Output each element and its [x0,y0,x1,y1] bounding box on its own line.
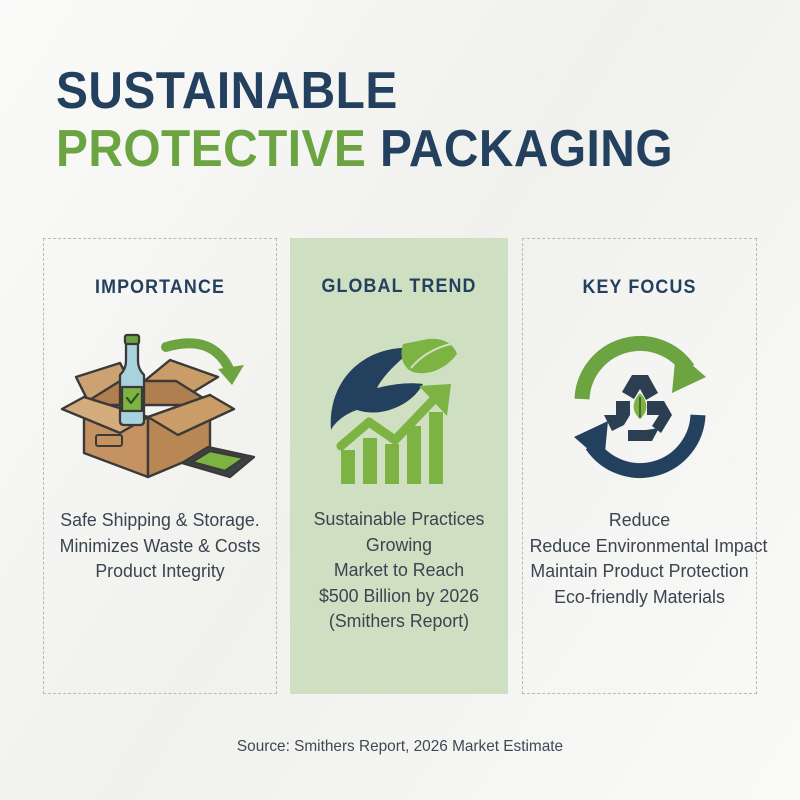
navy-arrowhead [574,421,608,463]
panel-importance-heading: IMPORTANCE [51,277,269,299]
panel-key-focus-line-3: Maintain Product Protection [530,558,750,584]
infographic-root: SUSTAINABLE PROTECTIVE PACKAGING IMPORTA… [0,0,800,800]
title-word-protective: PROTECTIVE [56,120,366,178]
panel-global-trend-line-5: (Smithers Report) [296,608,501,634]
panel-key-focus-body: Reduce Reduce Environmental Impact Maint… [530,507,750,609]
panel-global-trend: GLOBAL TREND [290,238,508,694]
recycle-circular-arrows-icon [523,321,756,493]
panel-global-trend-line-3: Market to Reach [296,557,501,583]
footer-source-text: Source: Smithers Report, 2026 Market Est… [16,738,784,756]
panel-importance-line-3: Product Integrity [51,558,270,584]
panel-importance-line-2: Minimizes Waste & Costs [51,533,270,559]
panel-importance: IMPORTANCE [43,238,277,694]
panel-global-trend-line-4: $500 Billion by 2026 [296,583,501,609]
title-line-1: SUSTAINABLE [56,62,700,120]
panel-key-focus-line-4: Eco-friendly Materials [530,584,750,610]
recycle-circle-svg [560,327,720,487]
box-illustration-svg [58,325,263,490]
panel-importance-line-1: Safe Shipping & Storage. [51,507,270,533]
panel-key-focus: KEY FOCUS [522,238,757,694]
page-title: SUSTAINABLE PROTECTIVE PACKAGING [56,62,756,178]
panel-global-trend-body: Sustainable Practices Growing Market to … [296,506,501,634]
title-line-2: PROTECTIVE PACKAGING [56,120,700,178]
panel-global-trend-heading: GLOBAL TREND [297,276,502,298]
open-box-with-bottle-and-tablet-icon [44,321,276,493]
title-word-packaging: PACKAGING [366,120,673,178]
growth-chart-with-leaf-icon [290,320,508,492]
panel-key-focus-heading: KEY FOCUS [530,277,749,299]
panel-importance-body: Safe Shipping & Storage. Minimizes Waste… [51,507,270,584]
panel-global-trend-line-1: Sustainable Practices [296,506,501,532]
panel-key-focus-line-2: Reduce Environmental Impact [530,533,750,559]
growth-leaf-svg [319,322,479,490]
panel-key-focus-line-1: Reduce [530,507,750,533]
panel-global-trend-line-2: Growing [296,532,501,558]
green-arrowhead [672,351,706,393]
bar-group [341,412,443,484]
